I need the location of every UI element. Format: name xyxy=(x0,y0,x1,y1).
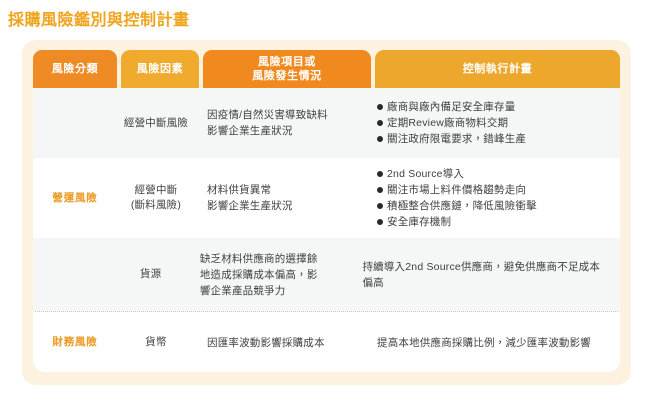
bullet-dot-icon xyxy=(377,187,383,193)
risk-item-text: 因匯率波動影響採購成本 xyxy=(195,335,363,351)
cell-risk-category xyxy=(33,88,117,158)
control-plan-bullet-list: 2nd Source導入 關注市場上料件價格趨勢走向 積極整合供應鏈，降低風險衝… xyxy=(377,166,537,230)
cell-risk-item: 因疫情/自然災害導致缺料 影響企業生產狀況 xyxy=(195,88,363,158)
table-row: 貨源 缺乏材料供應商的選擇餘 地造成採購成本偏高，影 響企業產品競爭力 持續導入… xyxy=(33,238,620,311)
table-header-risk-factor: 風險因素 xyxy=(121,50,199,88)
bullet-dot-icon xyxy=(377,120,383,126)
bullet-dot-icon xyxy=(377,203,383,209)
risk-item-line-3: 響企業產品競爭力 xyxy=(200,283,339,299)
control-plan-item-text: 積極整合供應鏈，降低風險衝擊 xyxy=(387,198,537,214)
risk-item-line-2: 地造成採購成本偏高，影 xyxy=(200,267,339,283)
table-row: 財務風險 貨幣 因匯率波動影響採購成本 提高本地供應商採購比例，減少匯率波動影響 xyxy=(33,312,620,372)
page-title: 採購風險鑑別與控制計畫 xyxy=(8,6,190,30)
risk-item-line-1: 材料供貨異常 xyxy=(207,182,353,198)
cell-control-plan: 提高本地供應商採購比例，減少匯率波動影響 xyxy=(363,312,620,372)
table-header-row: 風險分類 風險因素 風險項目或 風險發生情況 控制執行計畫 xyxy=(33,50,620,88)
risk-item-text: 材料供貨異常 影響企業生產狀況 xyxy=(195,182,363,214)
risk-factor-line-1: 經營中斷風險 xyxy=(124,117,188,129)
table-header-control-plan-line-1: 控制執行計畫 xyxy=(463,62,533,76)
risk-item-line-1: 因疫情/自然災害導致缺料 xyxy=(207,107,353,123)
table-header-risk-item-line-2: 風險發生情況 xyxy=(252,69,322,83)
risk-item-text: 因疫情/自然災害導致缺料 影響企業生產狀況 xyxy=(195,107,363,139)
risk-factor-label: 貨源 xyxy=(113,267,188,282)
bullet-dot-icon xyxy=(377,219,383,225)
list-item: 積極整合供應鏈，降低風險衝擊 xyxy=(377,198,537,214)
control-plan-item-text: 關注政府限電要求，錯峰生產 xyxy=(387,131,526,147)
cell-risk-factor: 貨幣 xyxy=(117,312,195,372)
list-item: 廠商與廠內備足安全庫存量 xyxy=(377,99,526,115)
risk-item-line-2: 影響企業生產狀況 xyxy=(207,123,353,139)
risk-factor-line-1: 經營中斷 xyxy=(117,183,195,198)
cell-control-plan: 持續導入2nd Source供應商，避免供應商不足成本偏高 xyxy=(348,238,620,311)
risk-item-line-1: 因匯率波動影響採購成本 xyxy=(207,335,353,351)
cell-risk-item: 材料供貨異常 影響企業生產狀況 xyxy=(195,158,363,238)
table-header-risk-item-line-1: 風險項目或 xyxy=(252,55,322,69)
table-header-risk-item: 風險項目或 風險發生情況 xyxy=(203,50,371,88)
slide-page: 採購風險鑑別與控制計畫 風險分類 風險因素 風險項目或 風險發生情況 控制執行計… xyxy=(0,0,653,405)
risk-factor-label: 貨幣 xyxy=(117,335,195,350)
table-body: 經營中斷風險 因疫情/自然災害導致缺料 影響企業生產狀況 廠商與廠內備足安全庫存… xyxy=(33,88,620,372)
risk-item-line-2: 影響企業生產狀況 xyxy=(207,198,353,214)
control-plan-item-text: 2nd Source導入 xyxy=(387,166,464,182)
risk-item-text: 缺乏材料供應商的選擇餘 地造成採購成本偏高，影 響企業產品競爭力 xyxy=(188,251,349,299)
risk-factor-line-1: 貨源 xyxy=(140,268,161,280)
list-item: 關注政府限電要求，錯峰生產 xyxy=(377,131,526,147)
cell-risk-item: 因匯率波動影響採購成本 xyxy=(195,312,363,372)
cell-risk-category: 營運風險 xyxy=(33,158,117,238)
table-header-risk-factor-line-1: 風險因素 xyxy=(137,62,183,76)
control-plan-item-text: 關注市場上料件價格趨勢走向 xyxy=(387,182,526,198)
list-item: 定期Review廠商物料交期 xyxy=(377,115,526,131)
risk-factor-line-2: (斷料風險) xyxy=(117,198,195,213)
risk-factor-label: 經營中斷 (斷料風險) xyxy=(117,183,195,213)
table-header-risk-category-line-1: 風險分類 xyxy=(52,62,98,76)
table-row: 營運風險 經營中斷 (斷料風險) 材料供貨異常 影響企業生產狀況 2nd xyxy=(33,158,620,238)
control-plan-bullet-list: 廠商與廠內備足安全庫存量 定期Review廠商物料交期 關注政府限電要求，錯峰生… xyxy=(377,99,526,147)
control-plan-item-text: 廠商與廠內備足安全庫存量 xyxy=(387,99,515,115)
risk-category-label: 財務風險 xyxy=(33,335,117,350)
risk-factor-label: 經營中斷風險 xyxy=(117,116,195,131)
control-plan-item-text: 定期Review廠商物料交期 xyxy=(387,115,508,131)
control-plan-item-text: 安全庫存機制 xyxy=(387,214,451,230)
bullet-dot-icon xyxy=(377,104,383,110)
list-item: 安全庫存機制 xyxy=(377,214,537,230)
cell-risk-factor: 經營中斷 (斷料風險) xyxy=(117,158,195,238)
table-row: 經營中斷風險 因疫情/自然災害導致缺料 影響企業生產狀況 廠商與廠內備足安全庫存… xyxy=(33,88,620,158)
control-plan-paragraph: 提高本地供應商採購比例，減少匯率波動影響 xyxy=(377,335,591,351)
table-header-risk-category: 風險分類 xyxy=(33,50,117,88)
cell-risk-factor: 貨源 xyxy=(113,238,188,311)
bullet-dot-icon xyxy=(377,171,383,177)
risk-item-line-1: 缺乏材料供應商的選擇餘 xyxy=(200,251,339,267)
cell-risk-category: 財務風險 xyxy=(33,312,117,372)
cell-control-plan: 2nd Source導入 關注市場上料件價格趨勢走向 積極整合供應鏈，降低風險衝… xyxy=(363,158,620,238)
list-item: 2nd Source導入 xyxy=(377,166,537,182)
cell-risk-item: 缺乏材料供應商的選擇餘 地造成採購成本偏高，影 響企業產品競爭力 xyxy=(188,238,349,311)
cell-control-plan: 廠商與廠內備足安全庫存量 定期Review廠商物料交期 關注政府限電要求，錯峰生… xyxy=(363,88,620,158)
cell-risk-factor: 經營中斷風險 xyxy=(117,88,195,158)
risk-factor-line-1: 貨幣 xyxy=(145,336,166,348)
list-item: 關注市場上料件價格趨勢走向 xyxy=(377,182,537,198)
risk-category-label: 營運風險 xyxy=(33,191,117,206)
cell-risk-category xyxy=(33,238,113,311)
bullet-dot-icon xyxy=(377,136,383,142)
control-plan-paragraph: 持續導入2nd Source供應商，避免供應商不足成本偏高 xyxy=(362,259,610,291)
table-header-control-plan: 控制執行計畫 xyxy=(375,50,620,88)
